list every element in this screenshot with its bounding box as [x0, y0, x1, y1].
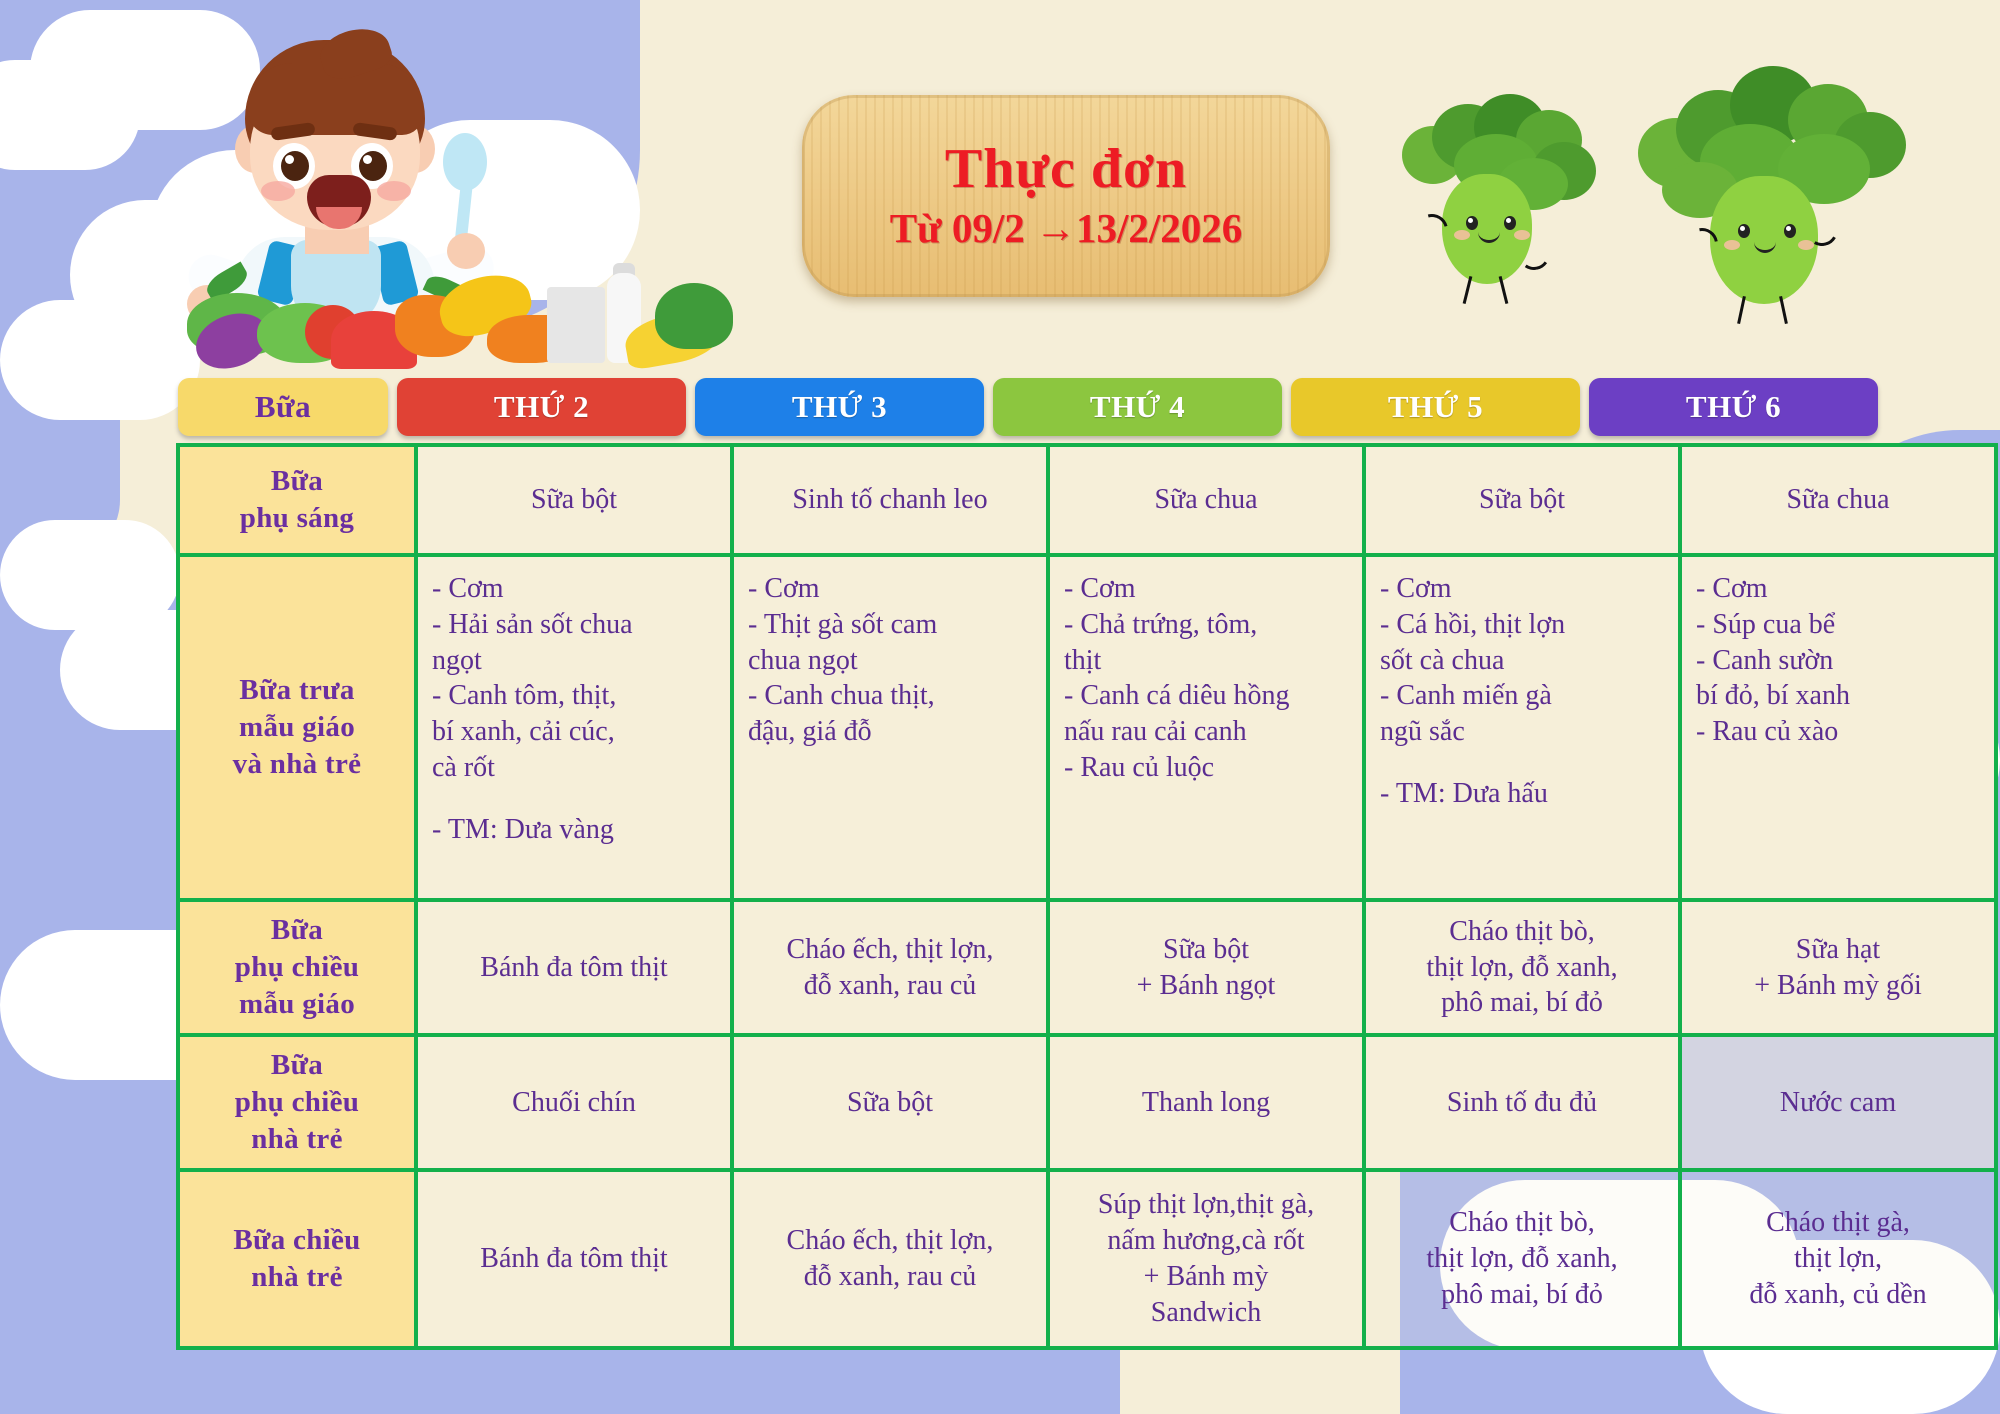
meal-label-line: phụ chiều [192, 1084, 402, 1121]
menu-cell-line: - Hải sản sốt chua [432, 607, 720, 643]
menu-cell-line: - Súp cua bể [1696, 607, 1984, 643]
table-row: Bữaphụ chiềunhà trẻChuối chínSữa bộtThan… [178, 1035, 1996, 1170]
menu-cell-line: Sữa bột [1378, 482, 1666, 518]
menu-cell-line: Sữa bột [746, 1085, 1034, 1121]
menu-cell-line: Cháo ếch, thịt lợn, [746, 1223, 1034, 1259]
menu-cell: Sinh tố đu đủ [1364, 1035, 1680, 1170]
menu-cell-line: - Cá hồi, thịt lợn [1380, 607, 1668, 643]
menu-cell-line: thịt lợn, đỗ xanh, [1378, 1241, 1666, 1277]
menu-cell-line: sốt cà chua [1380, 643, 1668, 679]
menu-cell-line: - TM: Dưa hấu [1380, 776, 1668, 812]
menu-cell: Cháo ếch, thịt lợn,đỗ xanh, rau củ [732, 1170, 1048, 1348]
menu-cell-line: - Chả trứng, tôm, [1064, 607, 1352, 643]
menu-cell: Nước cam [1680, 1035, 1996, 1170]
meal-label-line: mẫu giáo [192, 709, 402, 746]
menu-cell-line [432, 786, 720, 812]
table-row: Bữa trưamẫu giáovà nhà trẻ- Cơm- Hải sản… [178, 555, 1996, 900]
menu-cell-line: đỗ xanh, rau củ [746, 968, 1034, 1004]
weekly-menu-table: Bữaphụ sángSữa bộtSinh tố chanh leoSữa c… [176, 443, 1998, 1350]
menu-cell: Thanh long [1048, 1035, 1364, 1170]
meal-label-line: Bữa chiều [192, 1222, 402, 1259]
menu-cell: Cháo thịt bò,thịt lợn, đỗ xanh,phô mai, … [1364, 900, 1680, 1035]
menu-cell-line [1380, 750, 1668, 776]
menu-cell-line: cà rốt [432, 750, 720, 786]
menu-cell: Sinh tố chanh leo [732, 445, 1048, 555]
broccoli-mascot-small [1398, 88, 1628, 318]
menu-cell-line: bí xanh, cải cúc, [432, 714, 720, 750]
menu-cell-line: + Bánh mỳ [1062, 1259, 1350, 1295]
meal-label-line: Bữa [192, 463, 402, 500]
menu-cell: Súp thịt lợn,thịt gà,nấm hương,cà rốt+ B… [1048, 1170, 1364, 1348]
menu-cell-line: - Cơm [1380, 571, 1668, 607]
meal-label-cell: Bữaphụ chiềunhà trẻ [178, 1035, 416, 1170]
meal-label-line: phụ chiều [192, 949, 402, 986]
menu-cell: - Cơm- Chả trứng, tôm,thịt- Canh cá diêu… [1048, 555, 1364, 900]
menu-cell-line: Sữa hạt [1694, 932, 1982, 968]
menu-cell-line: Sữa bột [1062, 932, 1350, 968]
menu-cell: Sữa bột [1364, 445, 1680, 555]
menu-cell-line: Sinh tố chanh leo [746, 482, 1034, 518]
day-header-bar: Bữa THỨ 2 THỨ 3 THỨ 4 THỨ 5 THỨ 6 [178, 378, 1878, 436]
header-tab-thu5[interactable]: THỨ 5 [1291, 378, 1580, 436]
meal-label-line: phụ sáng [192, 500, 402, 537]
menu-cell-line: Cháo thịt bò, [1378, 1205, 1666, 1241]
menu-cell: Bánh đa tôm thịt [416, 1170, 732, 1348]
menu-cell-line: - Cơm [748, 571, 1036, 607]
table-row: Bữaphụ chiềumẫu giáoBánh đa tôm thịtCháo… [178, 900, 1996, 1035]
menu-cell-line: + Bánh mỳ gối [1694, 968, 1982, 1004]
menu-cell-line: + Bánh ngọt [1062, 968, 1350, 1004]
menu-cell-line: Bánh đa tôm thịt [430, 950, 718, 986]
menu-cell-line: Chuối chín [430, 1085, 718, 1121]
menu-cell-line: - Canh tôm, thịt, [432, 678, 720, 714]
meal-label-line: Bữa [192, 912, 402, 949]
menu-cell-line: bí đỏ, bí xanh [1696, 678, 1984, 714]
menu-cell: - Cơm- Thịt gà sốt camchua ngọt- Canh ch… [732, 555, 1048, 900]
meal-label-line: mẫu giáo [192, 986, 402, 1023]
menu-cell: - Cơm- Hải sản sốt chuangọt- Canh tôm, t… [416, 555, 732, 900]
broccoli-mascot-large [1638, 60, 1908, 322]
menu-cell-line: Sinh tố đu đủ [1378, 1085, 1666, 1121]
menu-cell-line: Cháo thịt gà, [1694, 1205, 1982, 1241]
date-range-subtitle: Từ 09/2 →13/2/2026 [890, 205, 1243, 252]
table-row: Bữa chiềunhà trẻBánh đa tôm thịtCháo ếch… [178, 1170, 1996, 1348]
menu-cell: Cháo ếch, thịt lợn,đỗ xanh, rau củ [732, 900, 1048, 1035]
menu-cell: Sữa bột [416, 445, 732, 555]
meal-label-line: và nhà trẻ [192, 746, 402, 783]
menu-cell: Cháo thịt bò,thịt lợn, đỗ xanh,phô mai, … [1364, 1170, 1680, 1348]
meal-label-line: Bữa [192, 1047, 402, 1084]
header-tab-thu2[interactable]: THỨ 2 [397, 378, 686, 436]
menu-cell-line: Sandwich [1062, 1295, 1350, 1331]
menu-cell-line: Sữa chua [1694, 482, 1982, 518]
menu-table-body: Bữaphụ sángSữa bộtSinh tố chanh leoSữa c… [178, 445, 1996, 1348]
meal-label-cell: Bữaphụ chiềumẫu giáo [178, 900, 416, 1035]
menu-cell-line: - TM: Dưa vàng [432, 812, 720, 848]
milk-carton-icon [547, 287, 605, 363]
table-row: Bữaphụ sángSữa bộtSinh tố chanh leoSữa c… [178, 445, 1996, 555]
menu-cell-line: đỗ xanh, củ dền [1694, 1277, 1982, 1313]
menu-cell-line: Thanh long [1062, 1085, 1350, 1121]
menu-cell-line: - Cơm [1696, 571, 1984, 607]
menu-cell-line: Nước cam [1694, 1085, 1982, 1121]
menu-cell-line: ngọt [432, 643, 720, 679]
menu-cell: Cháo thịt gà,thịt lợn,đỗ xanh, củ dền [1680, 1170, 1996, 1348]
menu-cell-line: ngũ sắc [1380, 714, 1668, 750]
menu-cell-line: thịt lợn, đỗ xanh, [1378, 950, 1666, 986]
menu-cell: Chuối chín [416, 1035, 732, 1170]
menu-cell: Sữa hạt+ Bánh mỳ gối [1680, 900, 1996, 1035]
menu-cell-line: - Cơm [432, 571, 720, 607]
meal-label-line: nhà trẻ [192, 1121, 402, 1158]
menu-cell: Bánh đa tôm thịt [416, 900, 732, 1035]
header-tab-thu3[interactable]: THỨ 3 [695, 378, 984, 436]
menu-cell-line: Bánh đa tôm thịt [430, 1241, 718, 1277]
menu-cell-line: - Thịt gà sốt cam [748, 607, 1036, 643]
menu-cell: Sữa chua [1048, 445, 1364, 555]
cabbage-icon [655, 283, 733, 349]
menu-cell-line: đỗ xanh, rau củ [746, 1259, 1034, 1295]
menu-cell-line: đậu, giá đỗ [748, 714, 1036, 750]
header-tab-thu6[interactable]: THỨ 6 [1589, 378, 1878, 436]
meal-label-line: Bữa trưa [192, 672, 402, 709]
menu-cell-line: - Cơm [1064, 571, 1352, 607]
menu-cell: Sữa chua [1680, 445, 1996, 555]
header-tab-thu4[interactable]: THỨ 4 [993, 378, 1282, 436]
menu-table-wrapper: Bữaphụ sángSữa bộtSinh tố chanh leoSữa c… [176, 443, 1880, 1350]
header-tab-meal[interactable]: Bữa [178, 378, 388, 436]
menu-cell-line: - Canh cá diêu hồng [1064, 678, 1352, 714]
menu-cell-line: phô mai, bí đỏ [1378, 985, 1666, 1021]
meal-label-cell: Bữaphụ sáng [178, 445, 416, 555]
menu-cell: Sữa bột [732, 1035, 1048, 1170]
menu-cell-line: - Canh sườn [1696, 643, 1984, 679]
menu-cell-line: - Canh chua thịt, [748, 678, 1036, 714]
menu-cell-line: Sữa bột [430, 482, 718, 518]
meal-label-cell: Bữa chiềunhà trẻ [178, 1170, 416, 1348]
boy-eating-illustration [95, 15, 595, 335]
menu-cell-line: - Canh miến gà [1380, 678, 1668, 714]
menu-cell: Sữa bột+ Bánh ngọt [1048, 900, 1364, 1035]
menu-cell-line: Cháo thịt bò, [1378, 914, 1666, 950]
menu-cell-line: thịt lợn, [1694, 1241, 1982, 1277]
menu-cell-line: Sữa chua [1062, 482, 1350, 518]
page-title: Thực đơn [945, 140, 1187, 199]
menu-cell-line: phô mai, bí đỏ [1378, 1277, 1666, 1313]
menu-cell-line: thịt [1064, 643, 1352, 679]
menu-cell-line: Cháo ếch, thịt lợn, [746, 932, 1034, 968]
menu-cell-line: Súp thịt lợn,thịt gà, [1062, 1187, 1350, 1223]
menu-cell-line: - Rau củ xào [1696, 714, 1984, 750]
menu-cell: - Cơm- Súp cua bể- Canh sườnbí đỏ, bí xa… [1680, 555, 1996, 900]
menu-cell-line: chua ngọt [748, 643, 1036, 679]
menu-cell: - Cơm- Cá hồi, thịt lợnsốt cà chua- Canh… [1364, 555, 1680, 900]
menu-cell-line: - Rau củ luộc [1064, 750, 1352, 786]
menu-cell-line: nấm hương,cà rốt [1062, 1223, 1350, 1259]
meal-label-line: nhà trẻ [192, 1259, 402, 1296]
title-plaque: Thực đơn Từ 09/2 →13/2/2026 [802, 95, 1330, 297]
menu-cell-line: nấu rau cải canh [1064, 714, 1352, 750]
meal-label-cell: Bữa trưamẫu giáovà nhà trẻ [178, 555, 416, 900]
